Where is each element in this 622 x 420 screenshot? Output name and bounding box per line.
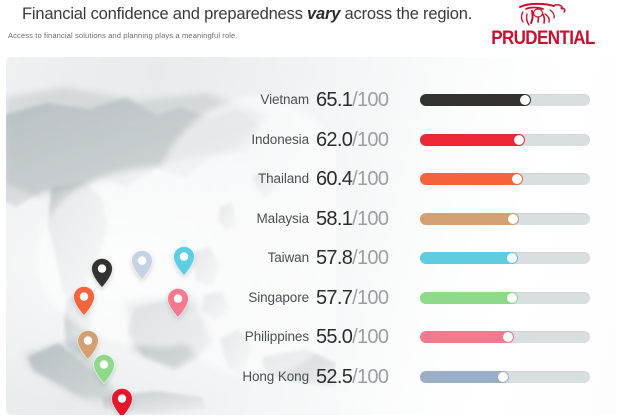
score-slider-knob[interactable]: [508, 214, 518, 224]
score-slider-fill: [420, 94, 531, 106]
score-slider-knob[interactable]: [503, 332, 513, 342]
score-slider-track[interactable]: [420, 213, 590, 225]
page-title-emphasis: vary: [307, 5, 340, 23]
country-score-row: Thailand60.4/100: [6, 164, 616, 194]
country-label: Malaysia: [126, 204, 309, 234]
score-slider-knob[interactable]: [498, 372, 508, 382]
score-denominator: /100: [352, 326, 388, 348]
country-score-row: Taiwan57.8/100: [6, 243, 616, 273]
country-score-row: Malaysia58.1/100: [6, 204, 616, 234]
score-value: 65.1/100: [316, 85, 411, 115]
score-denominator: /100: [352, 168, 388, 190]
country-label: Vietnam: [126, 85, 309, 115]
score-slider-fill: [420, 292, 518, 304]
country-score-row: Philippines55.0/100: [6, 322, 616, 352]
score-denominator: /100: [352, 129, 388, 151]
score-slider-track[interactable]: [420, 292, 590, 304]
score-slider-knob[interactable]: [520, 95, 530, 105]
score-number: 60.4: [316, 168, 352, 190]
score-denominator: /100: [352, 366, 388, 388]
prudence-figure-icon: [514, 2, 570, 29]
page-title: Financial confidence and preparedness va…: [22, 5, 472, 24]
country-score-row: Hong Kong52.5/100: [6, 362, 616, 392]
score-denominator: /100: [352, 89, 388, 111]
score-denominator: /100: [352, 208, 388, 230]
country-label: Taiwan: [126, 243, 309, 273]
score-number: 65.1: [316, 89, 352, 111]
score-number: 62.0: [316, 129, 352, 151]
score-slider-fill: [420, 371, 509, 383]
score-slider-track[interactable]: [420, 173, 590, 185]
score-number: 57.7: [316, 287, 352, 309]
score-slider-track[interactable]: [420, 134, 590, 146]
score-slider-knob[interactable]: [514, 135, 524, 145]
page-title-part1: Financial confidence and preparedness: [22, 5, 307, 23]
score-slider-fill: [420, 173, 523, 185]
score-number: 57.8: [316, 247, 352, 269]
score-slider-fill: [420, 134, 525, 146]
score-number: 58.1: [316, 208, 352, 230]
score-slider-track[interactable]: [420, 371, 590, 383]
score-number: 52.5: [316, 366, 352, 388]
score-value: 55.0/100: [316, 322, 411, 352]
page-title-part2: across the region.: [340, 5, 472, 23]
country-label: Philippines: [126, 322, 309, 352]
page-header: Financial confidence and preparedness va…: [0, 0, 622, 57]
page-subtitle: Access to financial solutions and planni…: [8, 31, 238, 40]
score-slider-knob[interactable]: [512, 174, 522, 184]
score-value: 52.5/100: [316, 362, 411, 392]
score-slider-track[interactable]: [420, 94, 590, 106]
score-denominator: /100: [352, 247, 388, 269]
score-slider-fill: [420, 252, 518, 264]
infographic-card: Vietnam65.1/100Indonesia62.0/100Thailand…: [6, 57, 616, 415]
country-label: Singapore: [126, 283, 309, 313]
score-denominator: /100: [352, 287, 388, 309]
country-score-row: Vietnam65.1/100: [6, 85, 616, 115]
score-slider-fill: [420, 213, 519, 225]
prudential-wordmark: PRUDENTIAL: [488, 27, 598, 49]
score-value: 57.7/100: [316, 283, 411, 313]
score-value: 57.8/100: [316, 243, 411, 273]
score-value: 60.4/100: [316, 164, 411, 194]
score-slider-track[interactable]: [420, 331, 590, 343]
country-label: Hong Kong: [126, 362, 309, 392]
score-value: 62.0/100: [316, 125, 411, 155]
score-slider-knob[interactable]: [507, 293, 517, 303]
prudential-logo: PRUDENTIAL: [488, 2, 598, 52]
country-label: Thailand: [126, 164, 309, 194]
score-value: 58.1/100: [316, 204, 411, 234]
country-score-list: Vietnam65.1/100Indonesia62.0/100Thailand…: [6, 57, 616, 415]
score-slider-track[interactable]: [420, 252, 590, 264]
country-score-row: Singapore57.7/100: [6, 283, 616, 313]
country-score-row: Indonesia62.0/100: [6, 125, 616, 155]
score-slider-fill: [420, 331, 514, 343]
country-label: Indonesia: [126, 125, 309, 155]
score-number: 55.0: [316, 326, 352, 348]
